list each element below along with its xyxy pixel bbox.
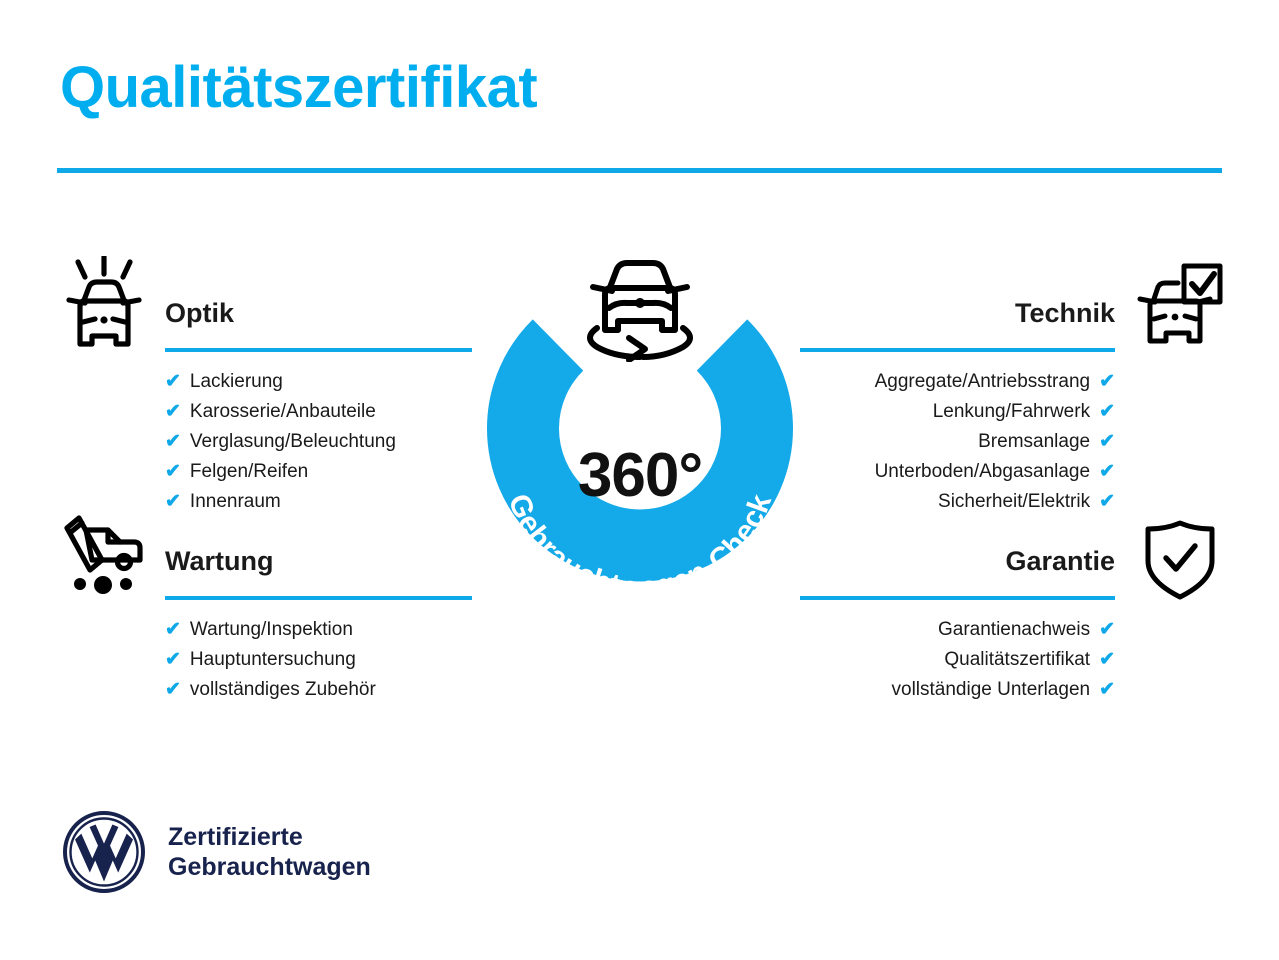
list-item-label: Bremsanlage xyxy=(978,432,1090,451)
list-item: Bremsanlage ✔ xyxy=(800,432,1115,451)
car-checkbox-icon xyxy=(1136,262,1224,355)
list-item: Aggregate/Antriebsstrang ✔ xyxy=(800,372,1115,391)
check-icon: ✔ xyxy=(1099,432,1115,451)
section-title: Technik xyxy=(800,300,1115,327)
check-icon: ✔ xyxy=(1099,402,1115,421)
section-header-wartung: Wartung xyxy=(165,548,472,592)
check-icon: ✔ xyxy=(165,680,181,699)
check-icon: ✔ xyxy=(1099,680,1115,699)
list-item: ✔ Karosserie/Anbauteile xyxy=(165,402,472,421)
list-item-label: Verglasung/Beleuchtung xyxy=(190,432,396,451)
section-title: Optik xyxy=(165,300,472,327)
list-item-label: Aggregate/Antriebsstrang xyxy=(875,372,1090,391)
section-divider xyxy=(165,596,472,600)
check-icon: ✔ xyxy=(165,432,181,451)
section-header-optik: Optik xyxy=(165,300,472,344)
checklist-wartung: ✔ Wartung/Inspektion ✔ Hauptuntersuchung… xyxy=(165,620,472,699)
list-item: vollständige Unterlagen ✔ xyxy=(800,680,1115,699)
vw-logo xyxy=(62,810,146,894)
check-icon: ✔ xyxy=(1099,650,1115,669)
list-item: Lenkung/Fahrwerk ✔ xyxy=(800,402,1115,421)
list-item-label: Garantienachweis xyxy=(938,620,1090,639)
check-icon: ✔ xyxy=(1099,620,1115,639)
list-item: ✔ Verglasung/Beleuchtung xyxy=(165,432,472,451)
section-technik: Technik Aggregate/Antriebsstrang ✔ Lenku… xyxy=(800,300,1115,522)
certificate-page: Qualitätszertifikat xyxy=(0,0,1279,960)
badge-number: 360° xyxy=(459,445,821,507)
section-optik: Optik ✔ Lackierung ✔ Karosserie/Anbautei… xyxy=(165,300,472,522)
list-item-label: vollständiges Zubehör xyxy=(190,680,376,699)
vw-wordmark-line1: Zertifizierte xyxy=(168,822,371,853)
section-header-garantie: Garantie xyxy=(800,548,1115,592)
check-icon: ✔ xyxy=(165,620,181,639)
list-item: Sicherheit/Elektrik ✔ xyxy=(800,492,1115,511)
vw-wordmark-line2: Gebrauchtwagen xyxy=(168,852,371,883)
check-icon: ✔ xyxy=(1099,492,1115,511)
section-divider xyxy=(165,348,472,352)
check-icon: ✔ xyxy=(165,402,181,421)
list-item-label: Lackierung xyxy=(190,372,283,391)
footer-branding: Zertifizierte Gebrauchtwagen xyxy=(62,810,371,894)
check-icon: ✔ xyxy=(165,372,181,391)
check-icon: ✔ xyxy=(165,492,181,511)
check-icon: ✔ xyxy=(1099,462,1115,481)
list-item: ✔ Lackierung xyxy=(165,372,472,391)
section-header-technik: Technik xyxy=(800,300,1115,344)
checklist-technik: Aggregate/Antriebsstrang ✔ Lenkung/Fahrw… xyxy=(800,372,1115,511)
check-icon: ✔ xyxy=(1099,372,1115,391)
vw-wordmark: Zertifizierte Gebrauchtwagen xyxy=(168,822,371,883)
360-check-badge: Gebrauchtwagen-Check xyxy=(459,250,821,622)
section-title: Garantie xyxy=(800,548,1115,575)
list-item: ✔ Innenraum xyxy=(165,492,472,511)
section-title: Wartung xyxy=(165,548,472,575)
section-divider xyxy=(800,596,1115,600)
list-item-label: Hauptuntersuchung xyxy=(190,650,356,669)
section-garantie: Garantie Garantienachweis ✔ Qualitätszer… xyxy=(800,548,1115,710)
car-front-rotate-icon xyxy=(567,250,713,367)
page-title: Qualitätszertifikat xyxy=(60,58,537,119)
list-item: Qualitätszertifikat ✔ xyxy=(800,650,1115,669)
list-item: ✔ vollständiges Zubehör xyxy=(165,680,472,699)
shield-check-icon xyxy=(1142,518,1218,607)
list-item: Garantienachweis ✔ xyxy=(800,620,1115,639)
checklist-optik: ✔ Lackierung ✔ Karosserie/Anbauteile ✔ V… xyxy=(165,372,472,511)
list-item-label: vollständige Unterlagen xyxy=(892,680,1091,699)
list-item-label: Qualitätszertifikat xyxy=(944,650,1090,669)
list-item-label: Innenraum xyxy=(190,492,281,511)
list-item: ✔ Felgen/Reifen xyxy=(165,462,472,481)
list-item-label: Wartung/Inspektion xyxy=(190,620,353,639)
car-shine-icon xyxy=(58,256,150,357)
list-item: ✔ Hauptuntersuchung xyxy=(165,650,472,669)
list-item: Unterboden/Abgasanlage ✔ xyxy=(800,462,1115,481)
header-divider xyxy=(57,168,1222,173)
check-icon: ✔ xyxy=(165,650,181,669)
list-item-label: Unterboden/Abgasanlage xyxy=(875,462,1091,481)
service-book-pencil-icon xyxy=(58,508,150,605)
list-item-label: Felgen/Reifen xyxy=(190,462,308,481)
list-item-label: Karosserie/Anbauteile xyxy=(190,402,376,421)
section-wartung: Wartung ✔ Wartung/Inspektion ✔ Hauptunte… xyxy=(165,548,472,710)
list-item: ✔ Wartung/Inspektion xyxy=(165,620,472,639)
check-icon: ✔ xyxy=(165,462,181,481)
checklist-garantie: Garantienachweis ✔ Qualitätszertifikat ✔… xyxy=(800,620,1115,699)
section-divider xyxy=(800,348,1115,352)
list-item-label: Lenkung/Fahrwerk xyxy=(933,402,1090,421)
list-item-label: Sicherheit/Elektrik xyxy=(938,492,1090,511)
